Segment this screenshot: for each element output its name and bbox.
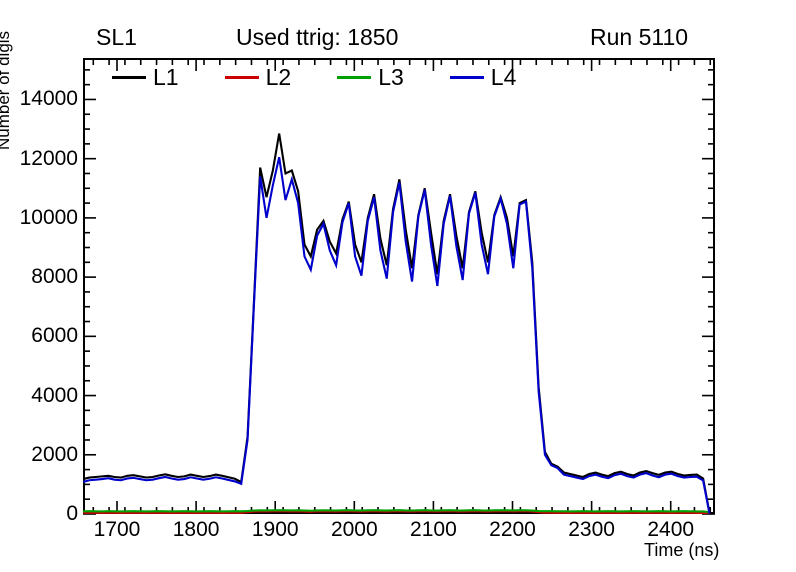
- legend-label: L3: [378, 66, 404, 89]
- plot-canvas: SL1 Used ttrig: 1850 Run 5110 Number of …: [0, 0, 796, 572]
- legend-entry-l3: L3: [337, 66, 404, 89]
- data-series-group: [83, 134, 709, 514]
- legend-swatch-l1-icon: [112, 76, 146, 79]
- legend-entry-l2: L2: [225, 66, 292, 89]
- legend-swatch-l3-icon: [337, 76, 371, 79]
- x-axis-title: Time (ns): [644, 540, 719, 561]
- legend-label: L4: [491, 66, 517, 89]
- legend-label: L2: [266, 66, 292, 89]
- series-line-l4: [83, 157, 709, 513]
- legend-swatch-l2-icon: [225, 76, 259, 79]
- axis-ticks: [83, 58, 715, 514]
- series-line-l1: [83, 134, 709, 513]
- legend-swatch-l4-icon: [450, 76, 484, 79]
- legend: L1L2L3L4: [112, 63, 592, 91]
- legend-entry-l1: L1: [112, 66, 179, 89]
- legend-label: L1: [153, 66, 179, 89]
- legend-entry-l4: L4: [450, 66, 517, 89]
